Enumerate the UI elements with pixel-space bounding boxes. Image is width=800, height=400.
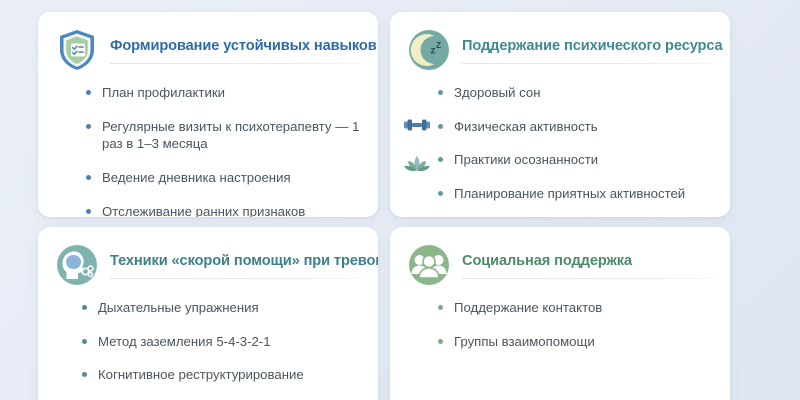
list-item: Практики осознанности (438, 151, 712, 169)
lotus-icon (400, 148, 434, 182)
list-item: Группы взаимопомощи (438, 333, 712, 351)
bullet-list: Здоровый сон Физическая активность Практ… (390, 74, 730, 203)
list-item: Дыхательные упражнения (82, 299, 360, 317)
list-item: Отслеживание ранних признаков ухудшения (86, 203, 360, 217)
card-header: Социальная поддержка (390, 227, 730, 289)
title-divider (110, 63, 364, 64)
list-item: Ведение дневника настроения (86, 169, 360, 187)
title-column: Социальная поддержка (462, 241, 716, 289)
title-divider (462, 63, 716, 64)
bullet-list: Поддержание контактов Группы взаимопомощ… (390, 289, 730, 350)
svg-text:Z: Z (436, 40, 441, 50)
breathing-head-icon (54, 242, 100, 288)
list-item: Когнитивное реструктурирование (82, 366, 360, 384)
list-item: Здоровый сон (438, 84, 712, 102)
card-title: Поддержание психического ресурса (462, 38, 716, 56)
shield-checklist-icon (54, 27, 100, 73)
card-header: Техники «скорой помощи» при тревоге (38, 227, 378, 289)
title-divider (110, 278, 364, 279)
dumbbell-icon (400, 108, 434, 142)
card-header: Формирование устойчивых навыков (38, 12, 378, 74)
list-item: Физическая активность (438, 118, 712, 136)
card-tekhniki-skoroy-pomoshchi[interactable]: Техники «скорой помощи» при тревоге Дыха… (38, 227, 378, 400)
card-title: Формирование устойчивых навыков (110, 38, 364, 56)
cards-grid: Формирование устойчивых навыков План про… (0, 0, 800, 400)
card-podderzhanie-psikhicheskogo-resursa[interactable]: z Z Поддержание психического ресурса (390, 12, 730, 217)
list-item: Регулярные визиты к психотерапевту — 1 р… (86, 118, 360, 153)
bullet-list: Дыхательные упражнения Метод заземления … (38, 289, 378, 384)
list-item: Планирование приятных активностей (438, 185, 712, 203)
card-title: Социальная поддержка (462, 253, 716, 271)
list-item: Метод заземления 5-4-3-2-1 (82, 333, 360, 351)
title-divider (462, 278, 716, 279)
moon-sleep-icon: z Z (406, 27, 452, 73)
svg-text:z: z (431, 46, 436, 57)
card-formirovanie-ustoychivykh-navykov[interactable]: Формирование устойчивых навыков План про… (38, 12, 378, 217)
list-item: Поддержание контактов (438, 299, 712, 317)
list-item: План профилактики (86, 84, 360, 102)
title-column: Поддержание психического ресурса (462, 26, 716, 74)
card-title: Техники «скорой помощи» при тревоге (110, 253, 364, 271)
bullet-list: План профилактики Регулярные визиты к пс… (38, 74, 378, 217)
people-group-icon (406, 242, 452, 288)
title-column: Формирование устойчивых навыков (110, 26, 364, 74)
card-sotsialnaya-podderzhka[interactable]: Социальная поддержка Поддержание контакт… (390, 227, 730, 400)
card-header: z Z Поддержание психического ресурса (390, 12, 730, 74)
title-column: Техники «скорой помощи» при тревоге (110, 241, 364, 289)
